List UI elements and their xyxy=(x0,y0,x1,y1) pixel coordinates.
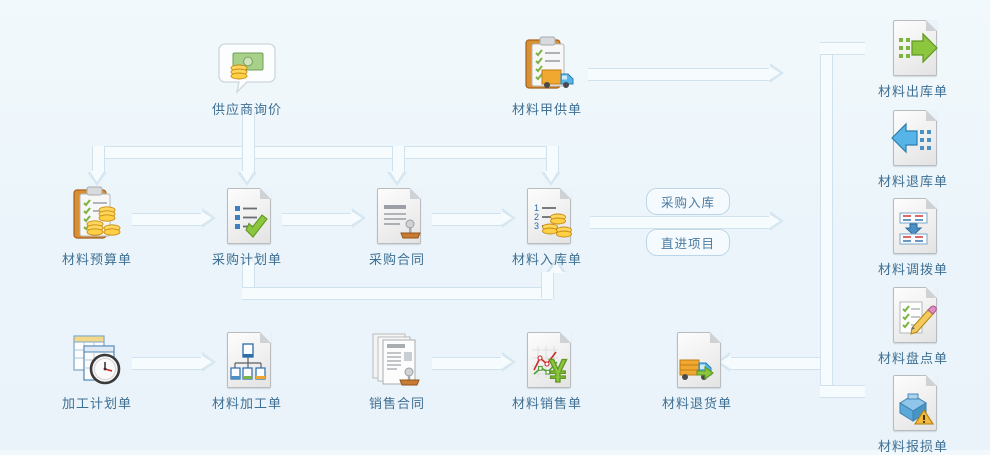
node-label: 材料加工单 xyxy=(192,396,302,412)
connector-feedback-up xyxy=(541,272,554,298)
edge-label-direct-project[interactable]: 直进项目 xyxy=(646,229,730,256)
arrow-bus-to-plan xyxy=(237,172,257,186)
node-material-process[interactable]: 材料加工单 xyxy=(192,330,302,412)
connector-bus-branch-inbound xyxy=(546,146,559,172)
document-stamp-icon xyxy=(366,186,428,248)
clipboard-coins-icon xyxy=(66,186,128,248)
document-blue-left-arrow-icon xyxy=(882,108,944,170)
document-green-right-arrow-icon xyxy=(882,18,944,80)
document-truck-return-icon xyxy=(666,330,728,392)
svg-text:¥: ¥ xyxy=(549,353,567,389)
node-process-plan[interactable]: 加工计划单 xyxy=(42,330,152,412)
node-label: 材料退货单 xyxy=(642,396,752,412)
arrow-bus-to-budget xyxy=(87,172,107,186)
node-material-sales[interactable]: ¥ 材料销售单 xyxy=(492,330,602,412)
node-label: 加工计划单 xyxy=(42,396,152,412)
document-pencil-check-icon xyxy=(882,285,944,347)
node-material-damage[interactable]: 材料报损单 xyxy=(858,373,968,455)
node-label: 材料销售单 xyxy=(492,396,602,412)
node-purchase-contract[interactable]: 采购合同 xyxy=(342,186,452,268)
connector-supply-to-bus xyxy=(588,68,770,81)
document-hierarchy-icon xyxy=(216,330,278,392)
node-material-return-stock[interactable]: 材料退库单 xyxy=(858,108,968,190)
edge-label-purchase-inbound[interactable]: 采购入库 xyxy=(646,188,730,215)
node-label: 材料盘点单 xyxy=(858,351,968,367)
documents-stamp-icon xyxy=(366,330,428,392)
document-box-warning-icon xyxy=(882,373,944,435)
node-label: 采购计划单 xyxy=(192,252,302,268)
node-label: 销售合同 xyxy=(342,396,452,412)
node-material-stocktake[interactable]: 材料盘点单 xyxy=(858,285,968,367)
workflow-diagram-canvas: 采购入库 直进项目 供应商询价 xyxy=(0,0,990,450)
connector-inbound-to-bus xyxy=(590,216,770,229)
arrow-bus-to-inbound xyxy=(541,172,561,186)
node-label: 采购合同 xyxy=(342,252,452,268)
connector-feedback-across xyxy=(242,287,552,300)
svg-text:3: 3 xyxy=(534,221,539,231)
node-label: 材料预算单 xyxy=(42,252,152,268)
node-material-return[interactable]: 材料退货单 xyxy=(642,330,752,412)
document-numbered-coins-icon: 123 xyxy=(516,186,578,248)
node-material-outbound[interactable]: 材料出库单 xyxy=(858,18,968,100)
tables-clock-icon xyxy=(66,330,128,392)
document-checklist-check-icon xyxy=(216,186,278,248)
document-transfer-icon xyxy=(882,196,944,258)
node-label: 供应商询价 xyxy=(192,102,302,118)
node-label: 材料调拨单 xyxy=(858,262,968,278)
node-label: 材料退库单 xyxy=(858,174,968,190)
connector-bus-branch-budget xyxy=(92,146,105,172)
connector-right-bus xyxy=(820,42,833,396)
arrow-inbound-to-bus xyxy=(770,211,784,231)
connector-bus-branch-plan xyxy=(242,146,255,172)
node-supplier-inquiry[interactable]: 供应商询价 xyxy=(192,36,302,118)
connector-distribution-bus xyxy=(92,146,557,159)
node-material-supply[interactable]: 材料甲供单 xyxy=(492,36,602,118)
document-chart-yuan-icon: ¥ xyxy=(516,330,578,392)
node-label: 材料入库单 xyxy=(492,252,602,268)
node-label: 材料出库单 xyxy=(858,84,968,100)
node-label: 材料甲供单 xyxy=(492,102,602,118)
node-material-budget[interactable]: 材料预算单 xyxy=(42,186,152,268)
connector-bus-branch-contract xyxy=(392,146,405,172)
node-sales-contract[interactable]: 销售合同 xyxy=(342,330,452,412)
arrow-supply-to-bus xyxy=(770,63,784,83)
clipboard-truck-icon xyxy=(516,36,578,98)
node-purchase-plan[interactable]: 采购计划单 xyxy=(192,186,302,268)
node-material-inbound[interactable]: 123 材料入库单 xyxy=(492,186,602,268)
arrow-bus-to-contract xyxy=(387,172,407,186)
node-label: 材料报损单 xyxy=(858,439,968,455)
speech-bubble-money-icon xyxy=(216,36,278,98)
node-material-transfer[interactable]: 材料调拨单 xyxy=(858,196,968,278)
